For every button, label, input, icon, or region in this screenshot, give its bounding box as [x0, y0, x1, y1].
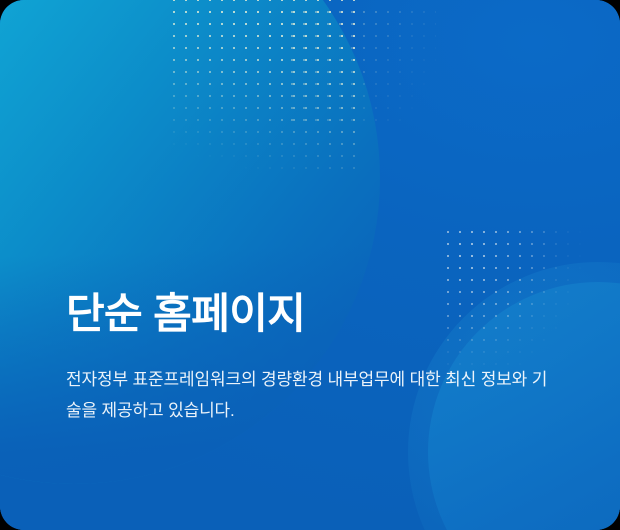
- hero-subtitle: 전자정부 표준프레임워크의 경량환경 내부업무에 대한 최신 정보와 기술을 제…: [66, 339, 560, 426]
- hero-title: 단순 홈페이지: [66, 288, 566, 339]
- hero-banner: 단순 홈페이지 전자정부 표준프레임워크의 경량환경 내부업무에 대한 최신 정…: [0, 0, 620, 530]
- hero-content: 단순 홈페이지 전자정부 표준프레임워크의 경량환경 내부업무에 대한 최신 정…: [66, 288, 566, 426]
